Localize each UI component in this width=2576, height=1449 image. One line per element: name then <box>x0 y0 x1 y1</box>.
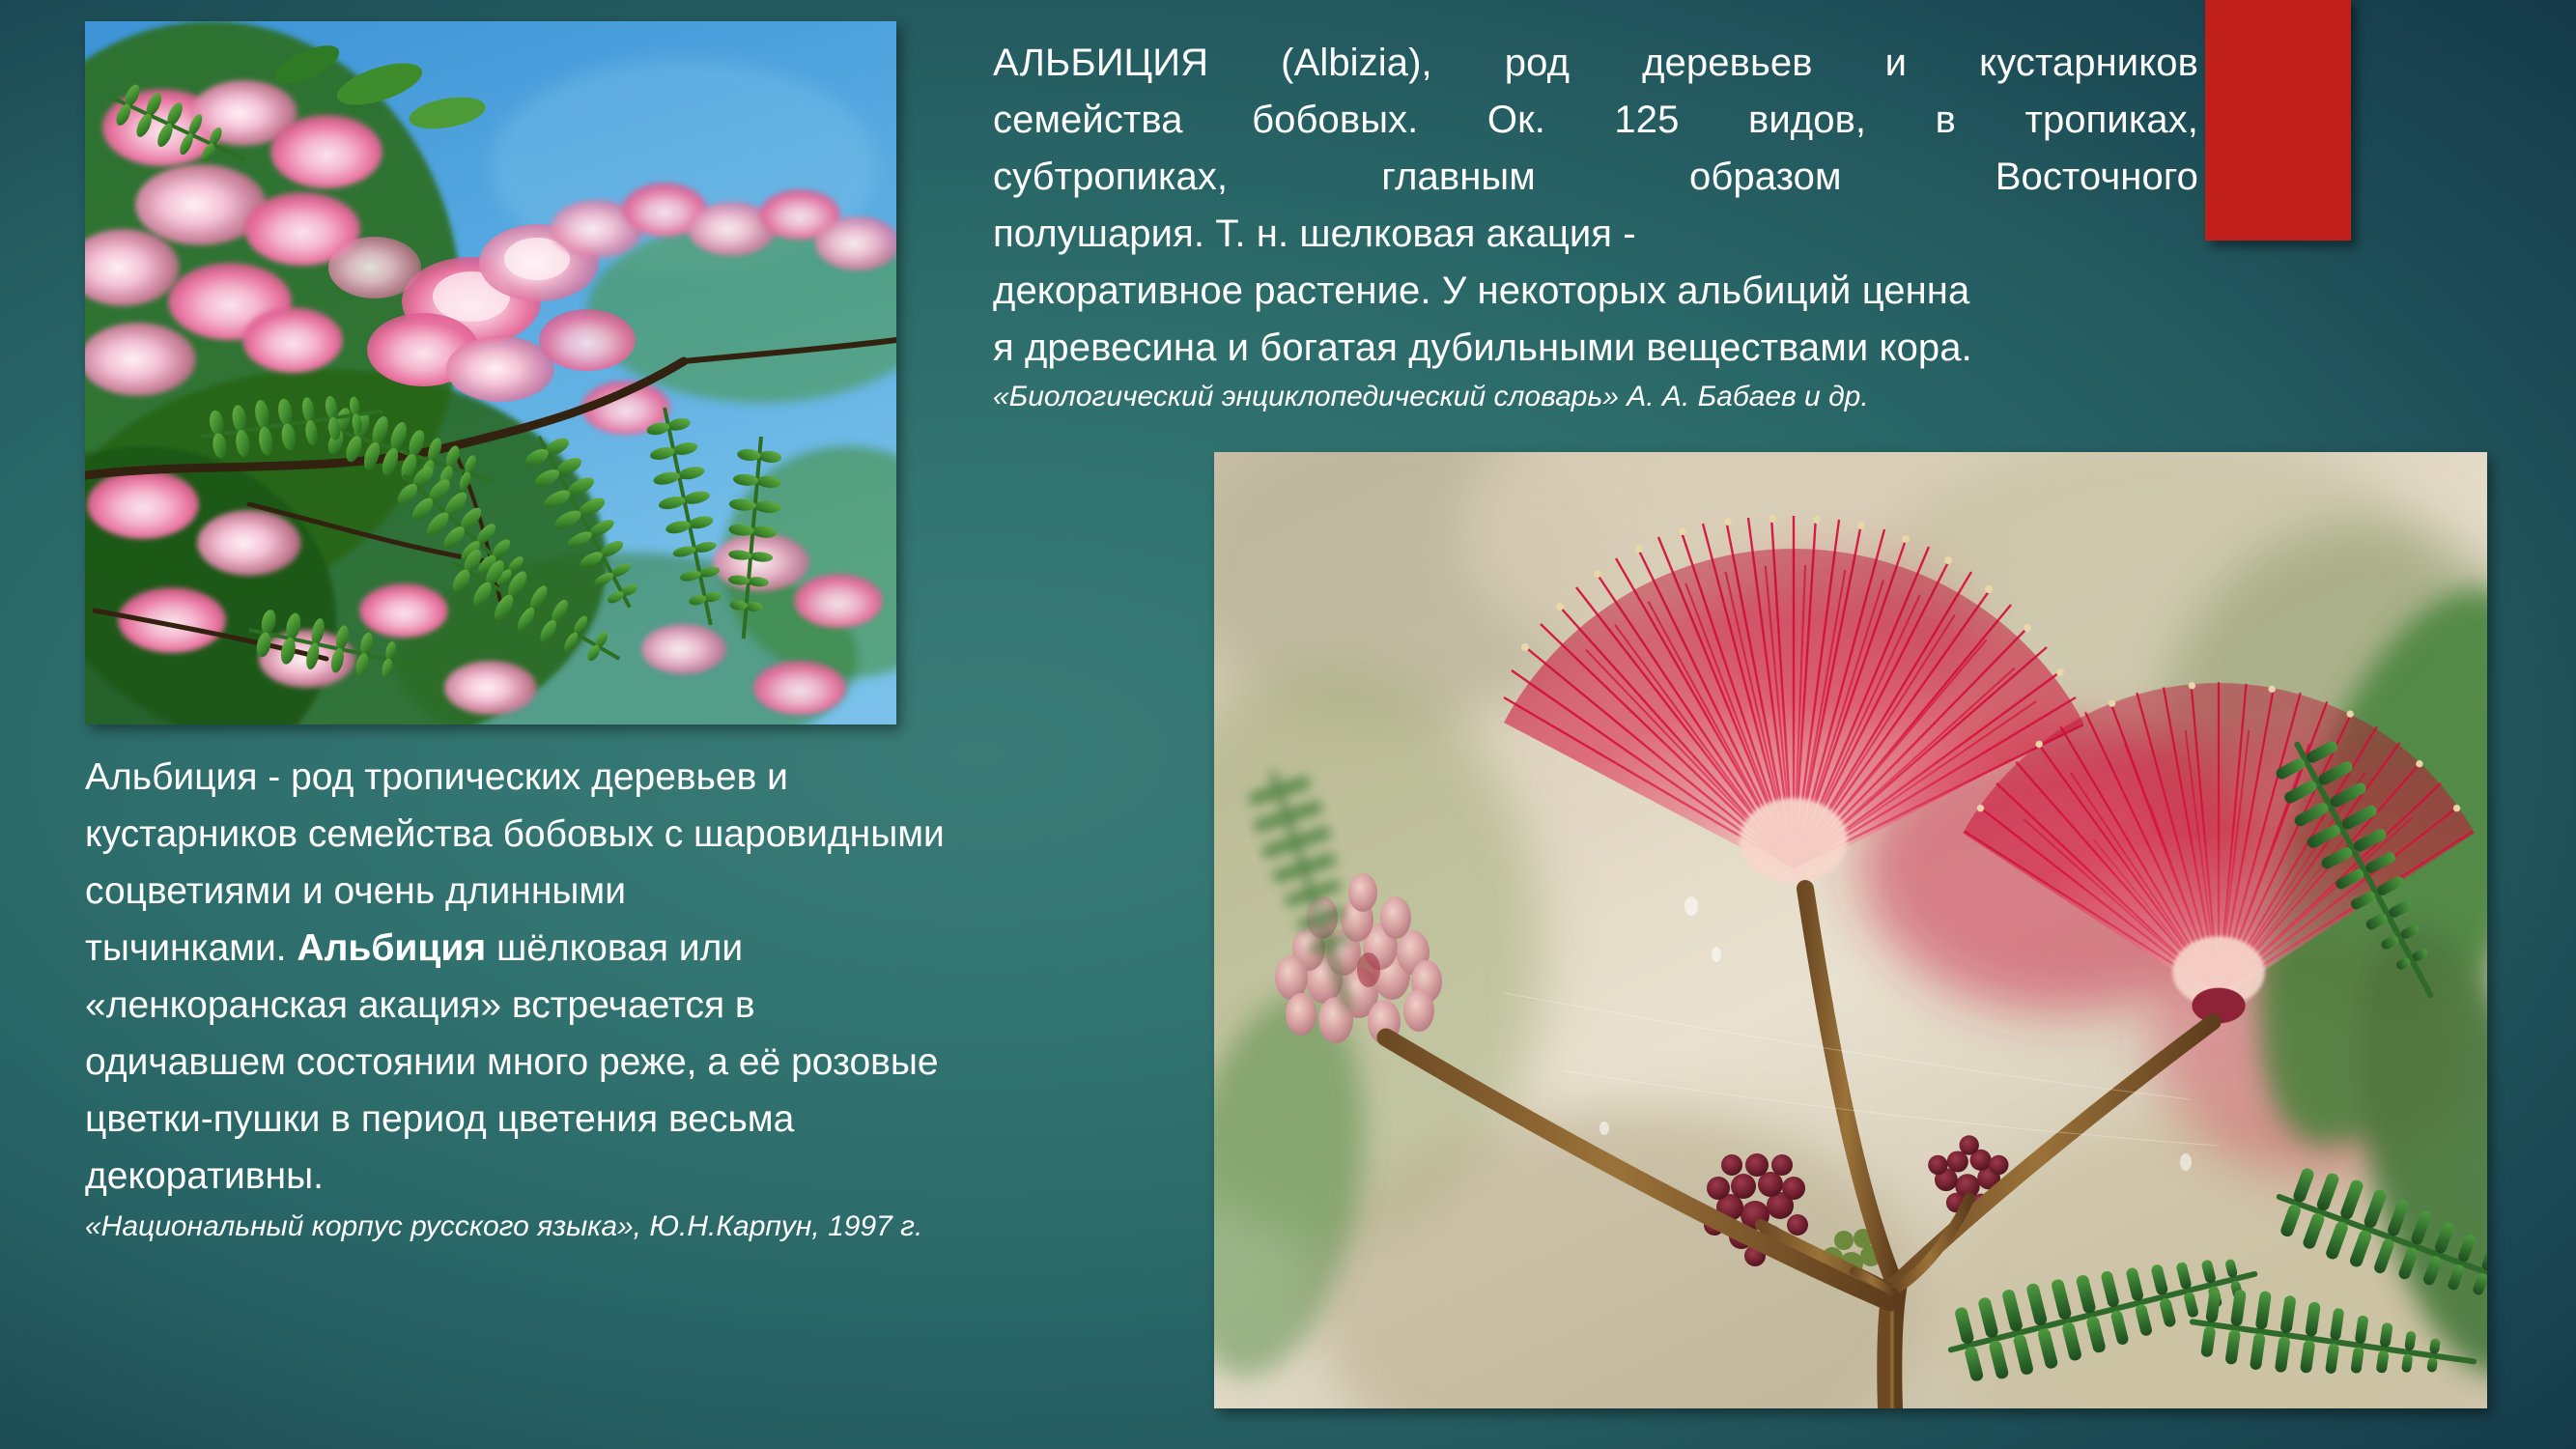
definition-line-5: декоративное растение. У некоторых альби… <box>993 263 2198 320</box>
description-line-8: декоративны. <box>85 1148 1225 1205</box>
description-line-4-prefix: тычинками. <box>85 927 297 969</box>
definition-text-block: АЛЬБИЦИЯ (Albizia), род деревьев и куста… <box>993 35 2198 416</box>
description-citation: «Национальный корпус русского языка», Ю.… <box>85 1207 1225 1246</box>
description-line-4: тычинками. Альбиция шёлковая или <box>85 920 1225 977</box>
definition-line-2: семейства бобовых. Ок. 125 видов, в троп… <box>993 92 2198 149</box>
description-line-1: Альбиция - род тропических деревьев и <box>85 749 1225 806</box>
description-line-5: «ленкоранская акация» встречается в <box>85 977 1225 1034</box>
description-line-4-bold-term: Альбиция <box>297 927 486 969</box>
definition-line-1: АЛЬБИЦИЯ (Albizia), род деревьев и куста… <box>993 35 2198 92</box>
albizia-flower-closeup-photo <box>1214 452 2487 1408</box>
definition-line-4: полушария. Т. н. шелковая акация - <box>993 206 2198 263</box>
description-line-4-suffix: шёлковая или <box>486 927 743 969</box>
red-accent-rectangle <box>2205 0 2351 241</box>
description-line-6: одичавшем состоянии много реже, а её роз… <box>85 1034 1225 1091</box>
description-line-3: соцветиями и очень длинными <box>85 863 1225 920</box>
definition-line-6: я древесина и богатая дубильными веществ… <box>993 320 2198 377</box>
presentation-slide: АЛЬБИЦИЯ (Albizia), род деревьев и куста… <box>0 0 2576 1449</box>
albizia-tree-photo-graphic <box>85 21 896 724</box>
definition-line-3: субтропиках, главным образом Восточного <box>993 149 2198 206</box>
description-line-2: кустарников семейства бобовых с шаровидн… <box>85 806 1225 863</box>
description-text-block: Альбиция - род тропических деревьев и ку… <box>85 749 1225 1246</box>
albizia-tree-photo <box>85 21 896 724</box>
albizia-flower-closeup-graphic <box>1214 452 2487 1408</box>
definition-citation: «Биологический энциклопедический словарь… <box>993 377 2198 416</box>
description-line-7: цветки-пушки в период цветения весьма <box>85 1091 1225 1148</box>
